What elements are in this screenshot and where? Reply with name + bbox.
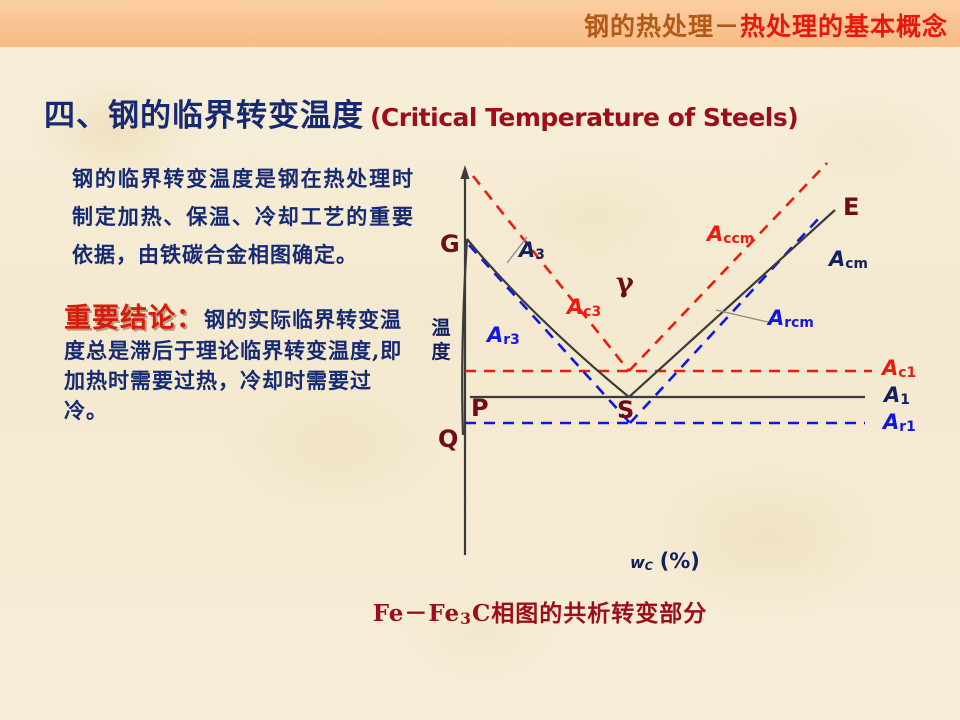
curve-label-ar3: Ar3 <box>487 325 520 346</box>
point-label-e: E <box>843 195 859 219</box>
conclusion-heading: 重要结论： <box>64 303 204 334</box>
point-label-q: Q <box>438 427 458 451</box>
header-banner: 钢的热处理－热处理的基本概念 <box>0 0 960 47</box>
curve-label-a1: A1 <box>884 385 910 406</box>
figure-caption: Fe－Fe3C相图的共析转变部分 <box>0 594 960 628</box>
page-title-chinese: 四、钢的临界转变温度 <box>44 98 364 134</box>
header-title: 钢的热处理－热处理的基本概念 <box>584 7 948 43</box>
conclusion-block: 重要结论：钢的实际临界转变温度总是滞后于理论临界转变温度,即加热时需要过热，冷却… <box>64 296 414 425</box>
header-title-subtopic: 热处理的基本概念 <box>740 12 948 41</box>
curve-label-ac3: Ac3 <box>567 297 601 318</box>
curve-label-acm: Acm <box>829 249 868 270</box>
slide-background: 钢的热处理－热处理的基本概念 四、钢的临界转变温度(Critical Tempe… <box>0 0 960 720</box>
curve-label-ac1: Ac1 <box>882 358 916 379</box>
phase-diagram <box>415 155 960 575</box>
x-axis-label: wC (%) <box>630 549 700 573</box>
curve-a3 <box>467 239 629 397</box>
header-title-topic: 钢的热处理－ <box>584 12 740 41</box>
point-label-g: G <box>440 232 460 256</box>
page-title: 四、钢的临界转变温度(Critical Temperature of Steel… <box>44 90 798 135</box>
curve-accm <box>629 163 827 371</box>
curve-label-ar1: Ar1 <box>883 412 916 433</box>
text-column: 钢的临界转变温度是钢在热处理时制定加热、保温、冷却工艺的重要依据，由铁碳合金相图… <box>64 160 414 425</box>
point-label-s: S <box>617 398 634 422</box>
page-title-english: (Critical Temperature of Steels) <box>370 103 798 132</box>
point-label-p: P <box>471 396 489 420</box>
y-axis-arrow <box>461 165 470 179</box>
curve-label-arcm: Arcm <box>768 308 814 329</box>
curve-label-accm: Accm <box>707 224 754 245</box>
curve-label-a3: A3 <box>519 240 545 261</box>
paragraph-definition: 钢的临界转变温度是钢在热处理时制定加热、保温、冷却工艺的重要依据，由铁碳合金相图… <box>64 160 414 274</box>
phase-region-gamma: γ <box>616 270 634 297</box>
